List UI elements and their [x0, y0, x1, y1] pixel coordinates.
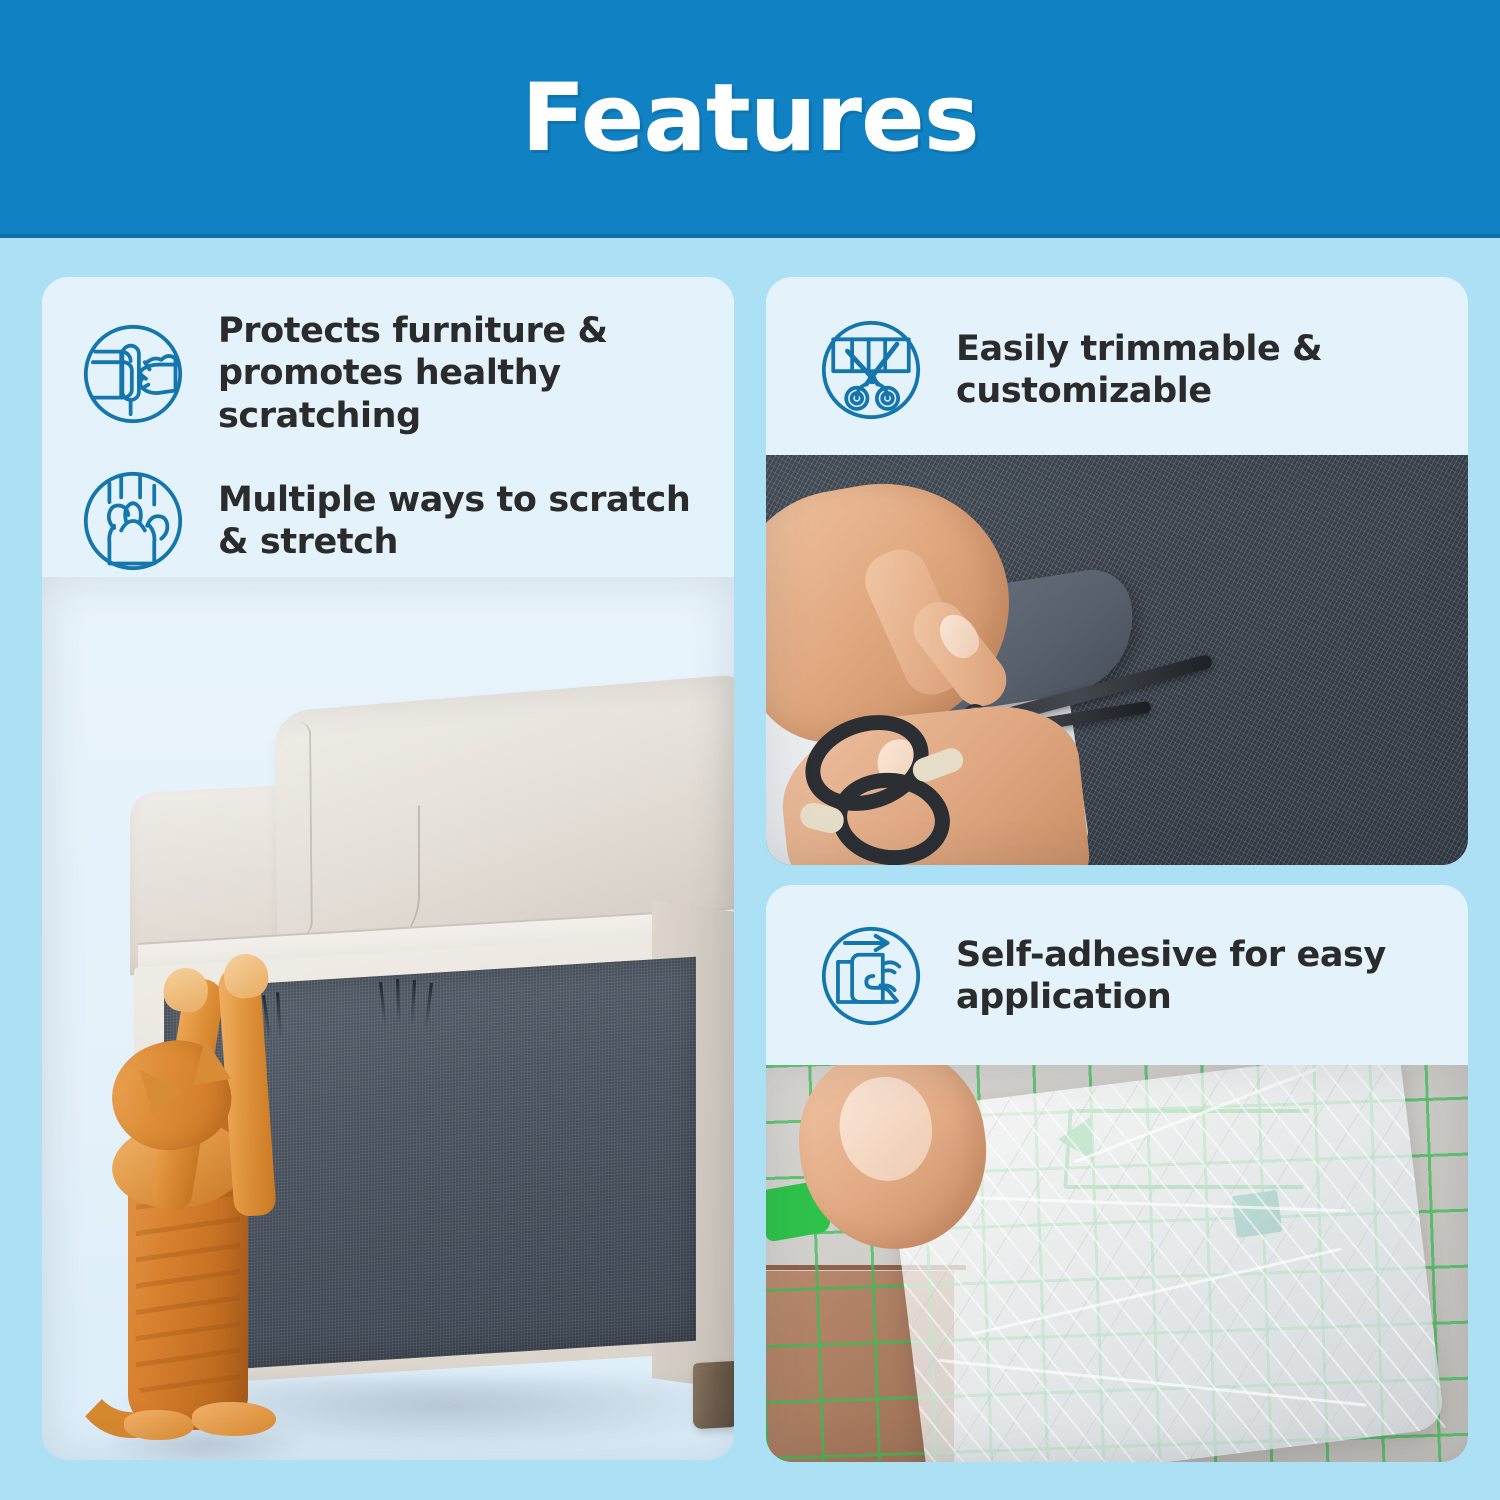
top-right-feature-panel: Easily trimmable & customizable — [766, 277, 1468, 865]
hand-applying-adhesive-icon — [812, 917, 930, 1035]
cat-hind-foot-right — [192, 1402, 276, 1436]
cat-paw-claws-icon — [74, 462, 192, 580]
scissors-cutting-mat-photo — [766, 455, 1468, 865]
feature-item-multiple-ways: Multiple ways to scratch & stretch — [74, 462, 714, 580]
peeling-adhesive-backing-photo — [766, 1065, 1468, 1462]
header-divider — [0, 234, 1500, 238]
feature-item-protects-furniture: Protects furniture & promotes healthy sc… — [74, 310, 714, 437]
feature-item-easily-trimmable: Easily trimmable & customizable — [812, 311, 1442, 429]
feature-label: Self-adhesive for easy application — [956, 934, 1442, 1019]
left-feature-panel: Protects furniture & promotes healthy sc… — [42, 277, 734, 1460]
cat-ear-right — [186, 1035, 231, 1085]
sofa-claw-icon — [74, 315, 192, 433]
page-title: Features — [521, 72, 979, 166]
page-header: Features — [0, 0, 1500, 237]
cat-illustration — [76, 982, 344, 1460]
cat-scratching-sofa-photo — [42, 577, 734, 1460]
bottom-right-feature-panel: Self-adhesive for easy application — [766, 885, 1468, 1462]
scissors-trim-icon — [812, 311, 930, 429]
feature-item-self-adhesive: Self-adhesive for easy application — [812, 917, 1442, 1035]
feature-label: Easily trimmable & customizable — [956, 328, 1442, 413]
feature-label: Protects furniture & promotes healthy sc… — [218, 310, 714, 437]
feature-label: Multiple ways to scratch & stretch — [218, 479, 714, 564]
cat-hind-foot-left — [124, 1410, 194, 1440]
cat-ear-left — [125, 1057, 182, 1115]
